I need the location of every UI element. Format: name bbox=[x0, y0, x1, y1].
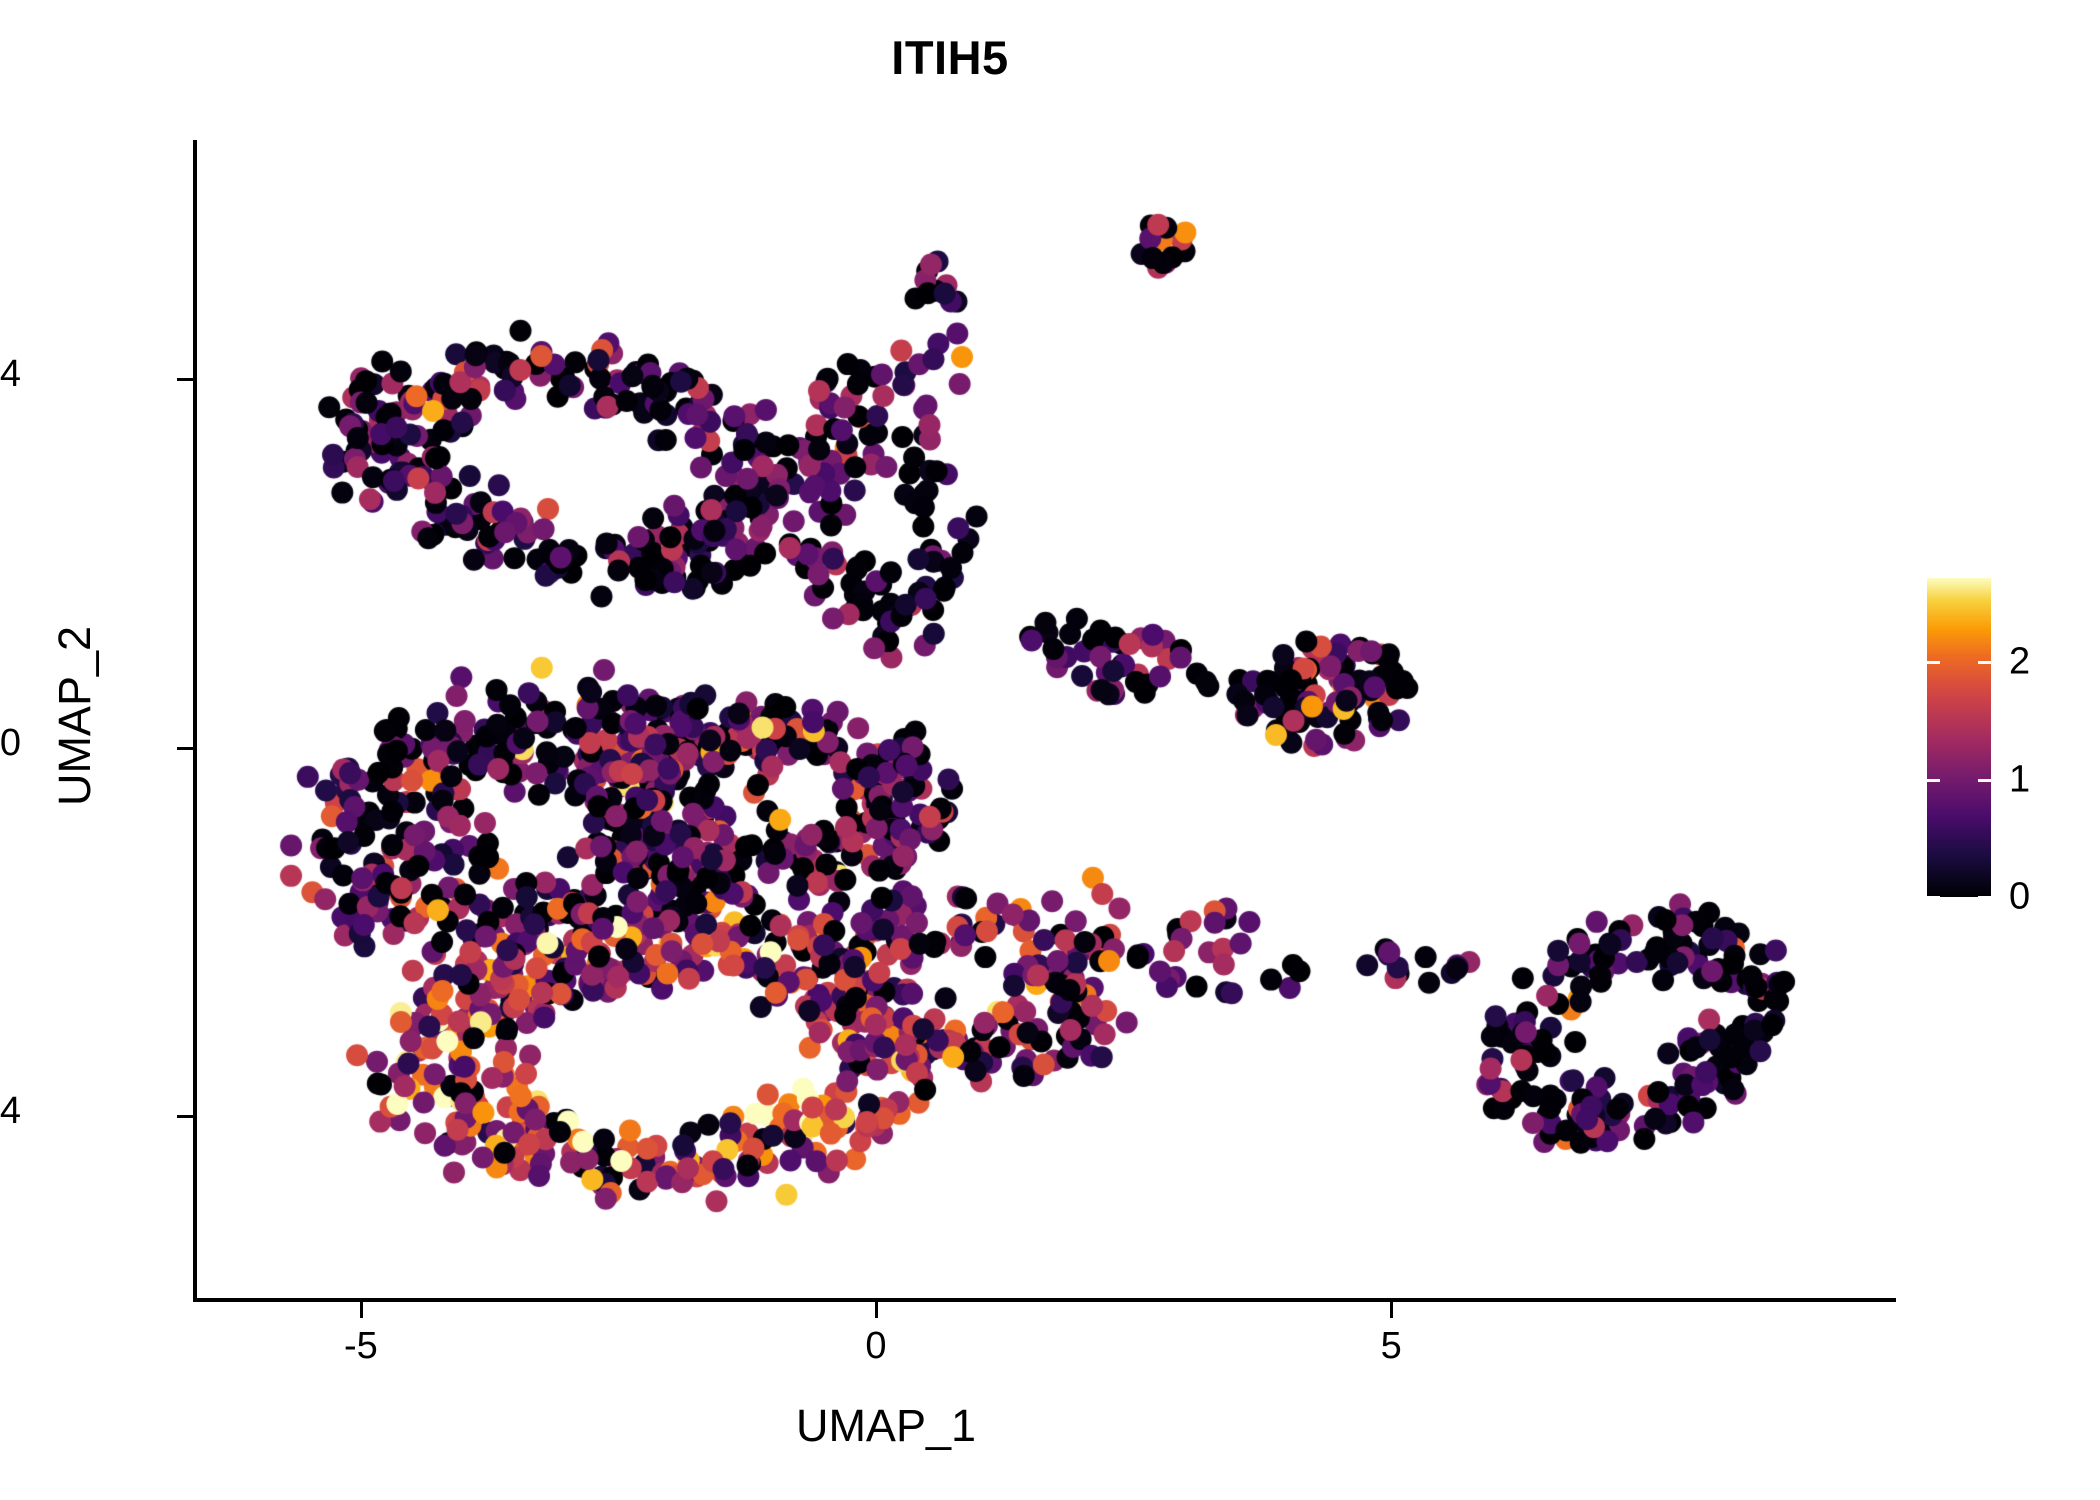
x-tick-label: 5 bbox=[1331, 1325, 1451, 1368]
colorbar-tick-label: 1 bbox=[2009, 758, 2030, 801]
colorbar-tick-mark bbox=[1978, 896, 1991, 899]
scatter-plot-canvas bbox=[196, 140, 1896, 1300]
colorbar-tick-label: 0 bbox=[2009, 876, 2030, 919]
x-axis-title: UMAP_1 bbox=[196, 1400, 1576, 1452]
colorbar-legend bbox=[1927, 578, 1991, 897]
y-axis-title: UMAP_2 bbox=[49, 136, 101, 1296]
x-tick-mark bbox=[360, 1302, 363, 1318]
x-tick-label: -5 bbox=[301, 1325, 421, 1368]
plot-panel bbox=[196, 140, 1896, 1300]
x-tick-label: 0 bbox=[816, 1325, 936, 1368]
y-tick-label: 4 bbox=[0, 353, 21, 396]
y-tick-mark bbox=[177, 747, 193, 750]
colorbar-tick-mark bbox=[1927, 896, 1940, 899]
colorbar-tick-mark bbox=[1927, 779, 1940, 782]
x-tick-mark bbox=[875, 1302, 878, 1318]
colorbar-tick-mark bbox=[1978, 779, 1991, 782]
colorbar-tick-label: 2 bbox=[2009, 641, 2030, 684]
colorbar-tick-mark bbox=[1927, 661, 1940, 664]
colorbar-tick-mark bbox=[1978, 661, 1991, 664]
x-axis-line bbox=[193, 1298, 1896, 1302]
umap-feature-plot: ITIH5 -404 -505 UMAP_1 UMAP_2 012 bbox=[0, 0, 2100, 1500]
y-tick-mark bbox=[177, 1115, 193, 1118]
y-tick-mark bbox=[177, 378, 193, 381]
y-tick-label: 0 bbox=[0, 722, 21, 765]
y-axis-line bbox=[193, 140, 197, 1302]
page-title: ITIH5 bbox=[0, 30, 1900, 85]
y-tick-label: -4 bbox=[0, 1090, 21, 1133]
x-tick-mark bbox=[1390, 1302, 1393, 1318]
colorbar-gradient bbox=[1927, 578, 1991, 897]
